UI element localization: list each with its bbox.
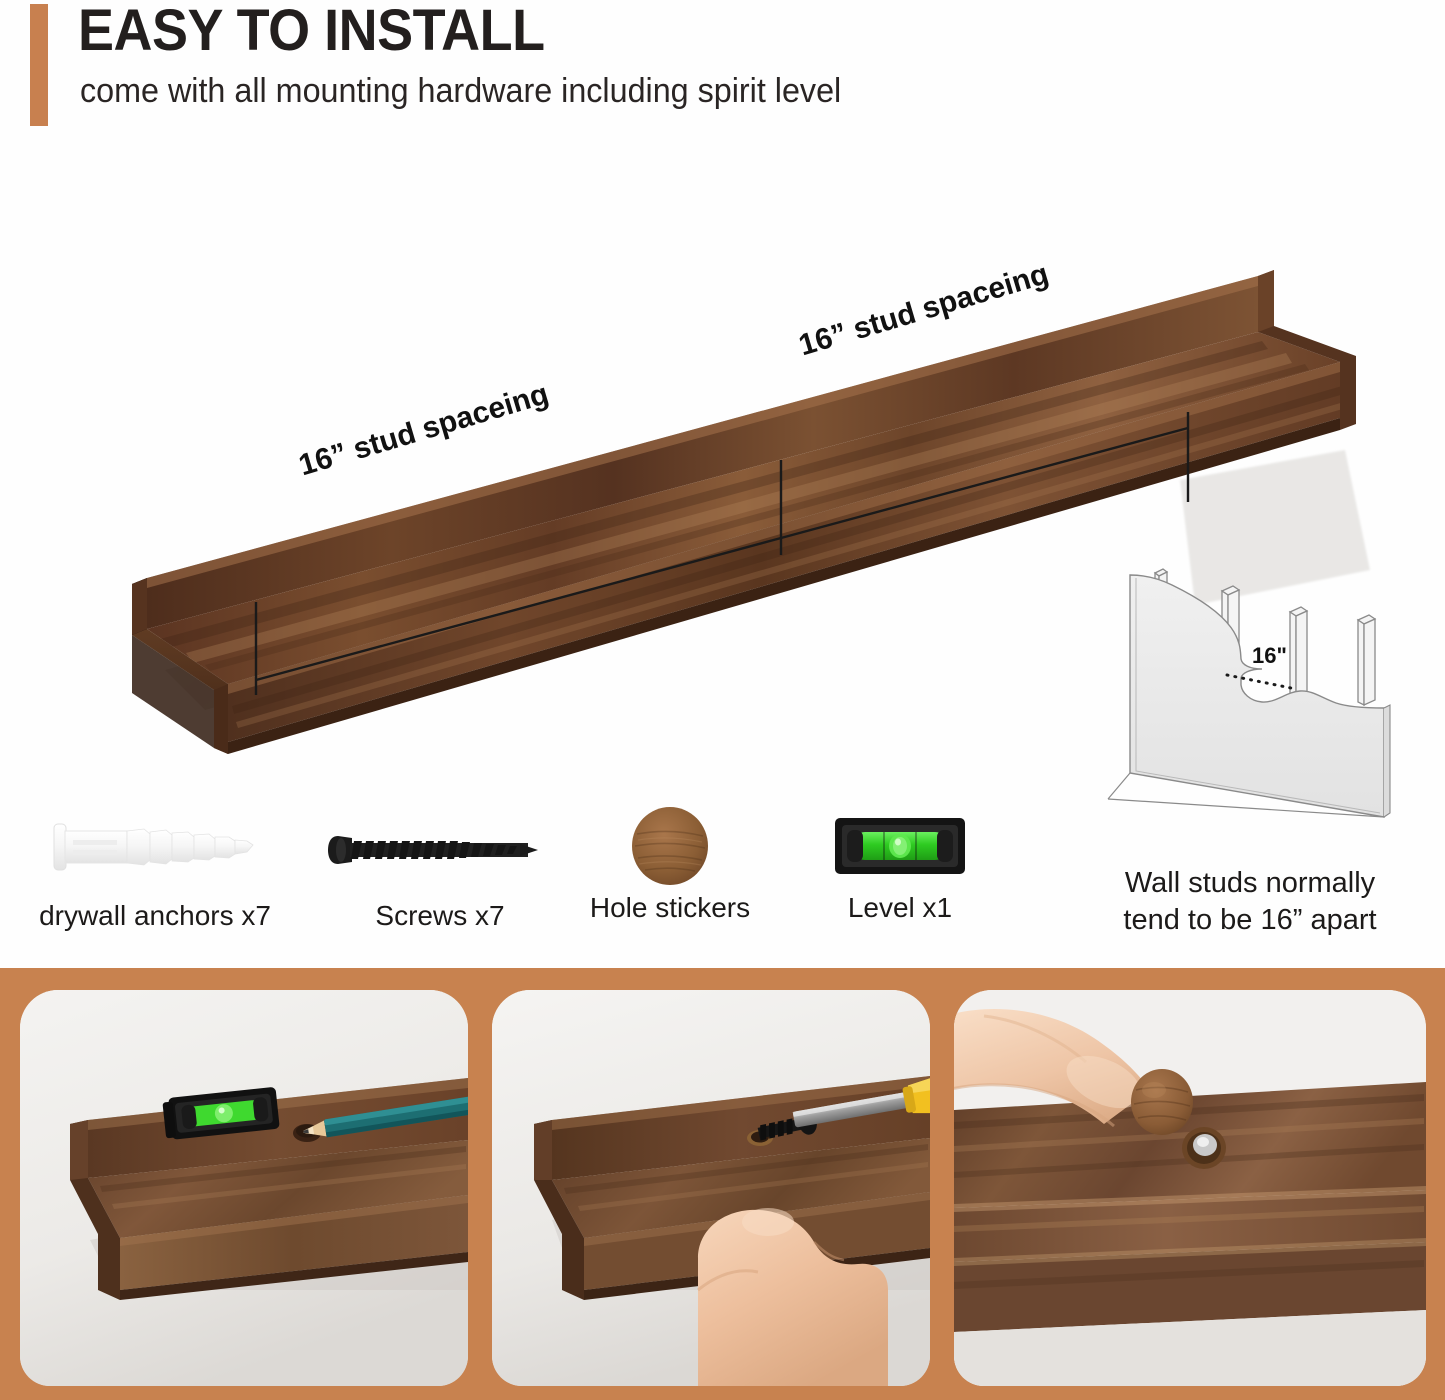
hardware-item-hole-stickers: Hole stickers bbox=[575, 806, 765, 924]
step-photo-strip bbox=[0, 968, 1445, 1400]
wall-stud-note-line1: Wall studs normally bbox=[1085, 865, 1415, 902]
infographic-root: EASY TO INSTALL come with all mounting h… bbox=[0, 0, 1445, 1400]
wall-stud-note: Wall studs normally tend to be 16” apart bbox=[1085, 865, 1415, 939]
wall-stud-note-line2: tend to be 16” apart bbox=[1085, 902, 1415, 939]
page-subtitle: come with all mounting hardware includin… bbox=[80, 72, 841, 111]
step-photo-apply-hole-sticker bbox=[954, 990, 1426, 1386]
hardware-item-drywall-anchors: drywall anchors x7 bbox=[10, 814, 300, 932]
drywall-anchor-icon bbox=[10, 814, 300, 886]
hardware-label-level: Level x1 bbox=[795, 892, 1005, 924]
header: EASY TO INSTALL come with all mounting h… bbox=[0, 0, 1445, 150]
step-photo-level-and-mark bbox=[20, 990, 468, 1386]
hardware-item-level: Level x1 bbox=[795, 806, 1005, 924]
hole-sticker-icon bbox=[575, 806, 765, 878]
screw-icon bbox=[310, 814, 570, 886]
hardware-label-drywall-anchors: drywall anchors x7 bbox=[10, 900, 300, 932]
hardware-label-hole-stickers: Hole stickers bbox=[575, 892, 765, 924]
page-title: EASY TO INSTALL bbox=[78, 2, 545, 60]
stud-measure-label: 16" bbox=[1252, 643, 1287, 668]
hardware-label-screws: Screws x7 bbox=[310, 900, 570, 932]
accent-bar bbox=[30, 4, 48, 126]
wall-stud-diagram: 16" bbox=[1100, 545, 1430, 820]
spirit-level-icon bbox=[795, 806, 1005, 878]
step-photo-drive-screw bbox=[492, 990, 930, 1386]
hardware-item-screws: Screws x7 bbox=[310, 814, 570, 932]
